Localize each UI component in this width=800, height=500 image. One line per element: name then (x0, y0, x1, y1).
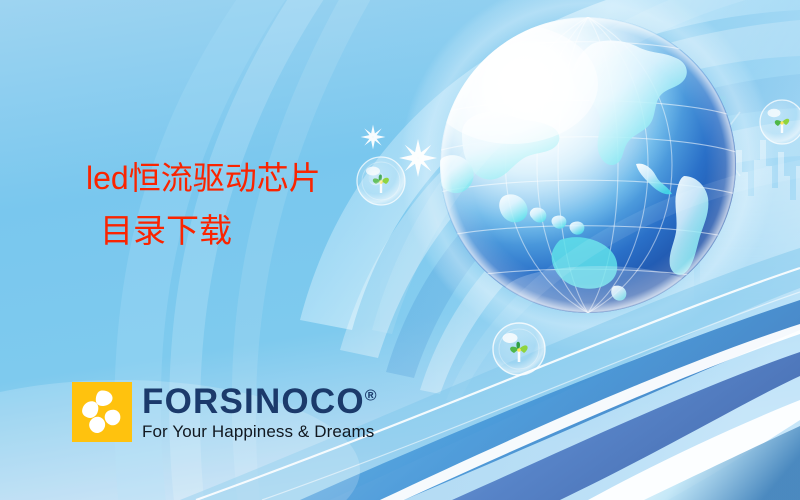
bubble-windmill-small (369, 171, 384, 186)
registered-trademark-icon: ® (365, 387, 377, 404)
bubble-windmill-center (493, 323, 545, 375)
logo-wordmark-text: FORSINOCO (142, 382, 365, 421)
bubble-windmill-right (760, 100, 800, 144)
four-petal-pinwheel-icon (72, 382, 132, 442)
headline-text: led恒流驱动芯片 目录下载 (86, 162, 321, 247)
logo-wordmark: FORSINOCO® (142, 384, 377, 419)
banner-image: led恒流驱动芯片 目录下载 FORSINOCO® For Your Happi… (0, 0, 800, 500)
logo-tagline: For Your Happiness & Dreams (142, 423, 377, 440)
headline-line-1: led恒流驱动芯片 (86, 162, 321, 194)
headline-line-2: 目录下载 (86, 214, 321, 247)
brand-logo: FORSINOCO® For Your Happiness & Dreams (72, 382, 377, 442)
